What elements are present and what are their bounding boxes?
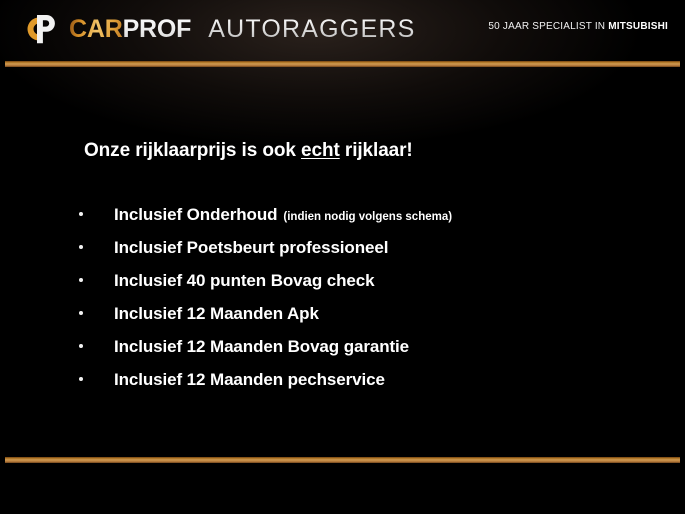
promo-slide: CARPROF AUTORAGGERS 50 JAAR SPECIALIST I… xyxy=(0,0,685,514)
list-item: Inclusief 40 punten Bovag check xyxy=(79,271,452,304)
headline-emphasis: echt xyxy=(301,140,340,161)
list-item: Inclusief 12 Maanden Bovag garantie xyxy=(79,337,452,370)
list-item-label: Inclusief 40 punten Bovag check xyxy=(114,271,374,291)
sub-brand-name: AUTORAGGERS xyxy=(208,17,415,42)
list-item-label: Inclusief 12 Maanden Apk xyxy=(114,304,319,324)
list-item: Inclusief 12 Maanden Apk xyxy=(79,304,452,337)
bullet-dot-icon xyxy=(79,212,83,216)
carprof-cp-monogram-icon xyxy=(17,11,63,47)
bullet-dot-icon xyxy=(79,245,83,249)
bullet-dot-icon xyxy=(79,344,83,348)
list-item: Inclusief Onderhoud (indien nodig volgen… xyxy=(79,205,452,238)
logo-lockup: CARPROF AUTORAGGERS xyxy=(17,9,415,49)
list-item: Inclusief 12 Maanden pechservice xyxy=(79,370,452,403)
page-title: Onze rijklaarprijs is ook echt rijklaar! xyxy=(84,140,413,162)
brand-wordmark-car: CAR xyxy=(69,15,123,43)
headline-part1: Onze rijklaarprijs is ook xyxy=(84,140,301,161)
divider-top xyxy=(5,61,680,67)
benefits-list: Inclusief Onderhoud (indien nodig volgen… xyxy=(79,205,452,403)
list-item: Inclusief Poetsbeurt professioneel xyxy=(79,238,452,271)
brand-wordmark: CARPROF xyxy=(69,17,191,42)
list-item-label: Inclusief 12 Maanden pechservice xyxy=(114,370,385,390)
list-item-note: (indien nodig volgens schema) xyxy=(283,211,452,223)
bullet-dot-icon xyxy=(79,311,83,315)
bullet-dot-icon xyxy=(79,377,83,381)
list-item-label: Inclusief 12 Maanden Bovag garantie xyxy=(114,337,409,357)
headline-part2: rijklaar! xyxy=(340,140,413,161)
bullet-dot-icon xyxy=(79,278,83,282)
list-item-label: Inclusief Poetsbeurt professioneel xyxy=(114,238,388,258)
brand-header: CARPROF AUTORAGGERS 50 JAAR SPECIALIST I… xyxy=(0,0,685,62)
tagline-brand: MITSUBISHI xyxy=(608,21,668,32)
divider-bottom xyxy=(5,457,680,463)
specialist-tagline: 50 JAAR SPECIALIST IN MITSUBISHI xyxy=(488,21,668,32)
list-item-label: Inclusief Onderhoud xyxy=(114,205,277,225)
tagline-prefix: 50 JAAR SPECIALIST IN xyxy=(488,21,608,32)
brand-wordmark-prof: PROF xyxy=(123,15,192,43)
